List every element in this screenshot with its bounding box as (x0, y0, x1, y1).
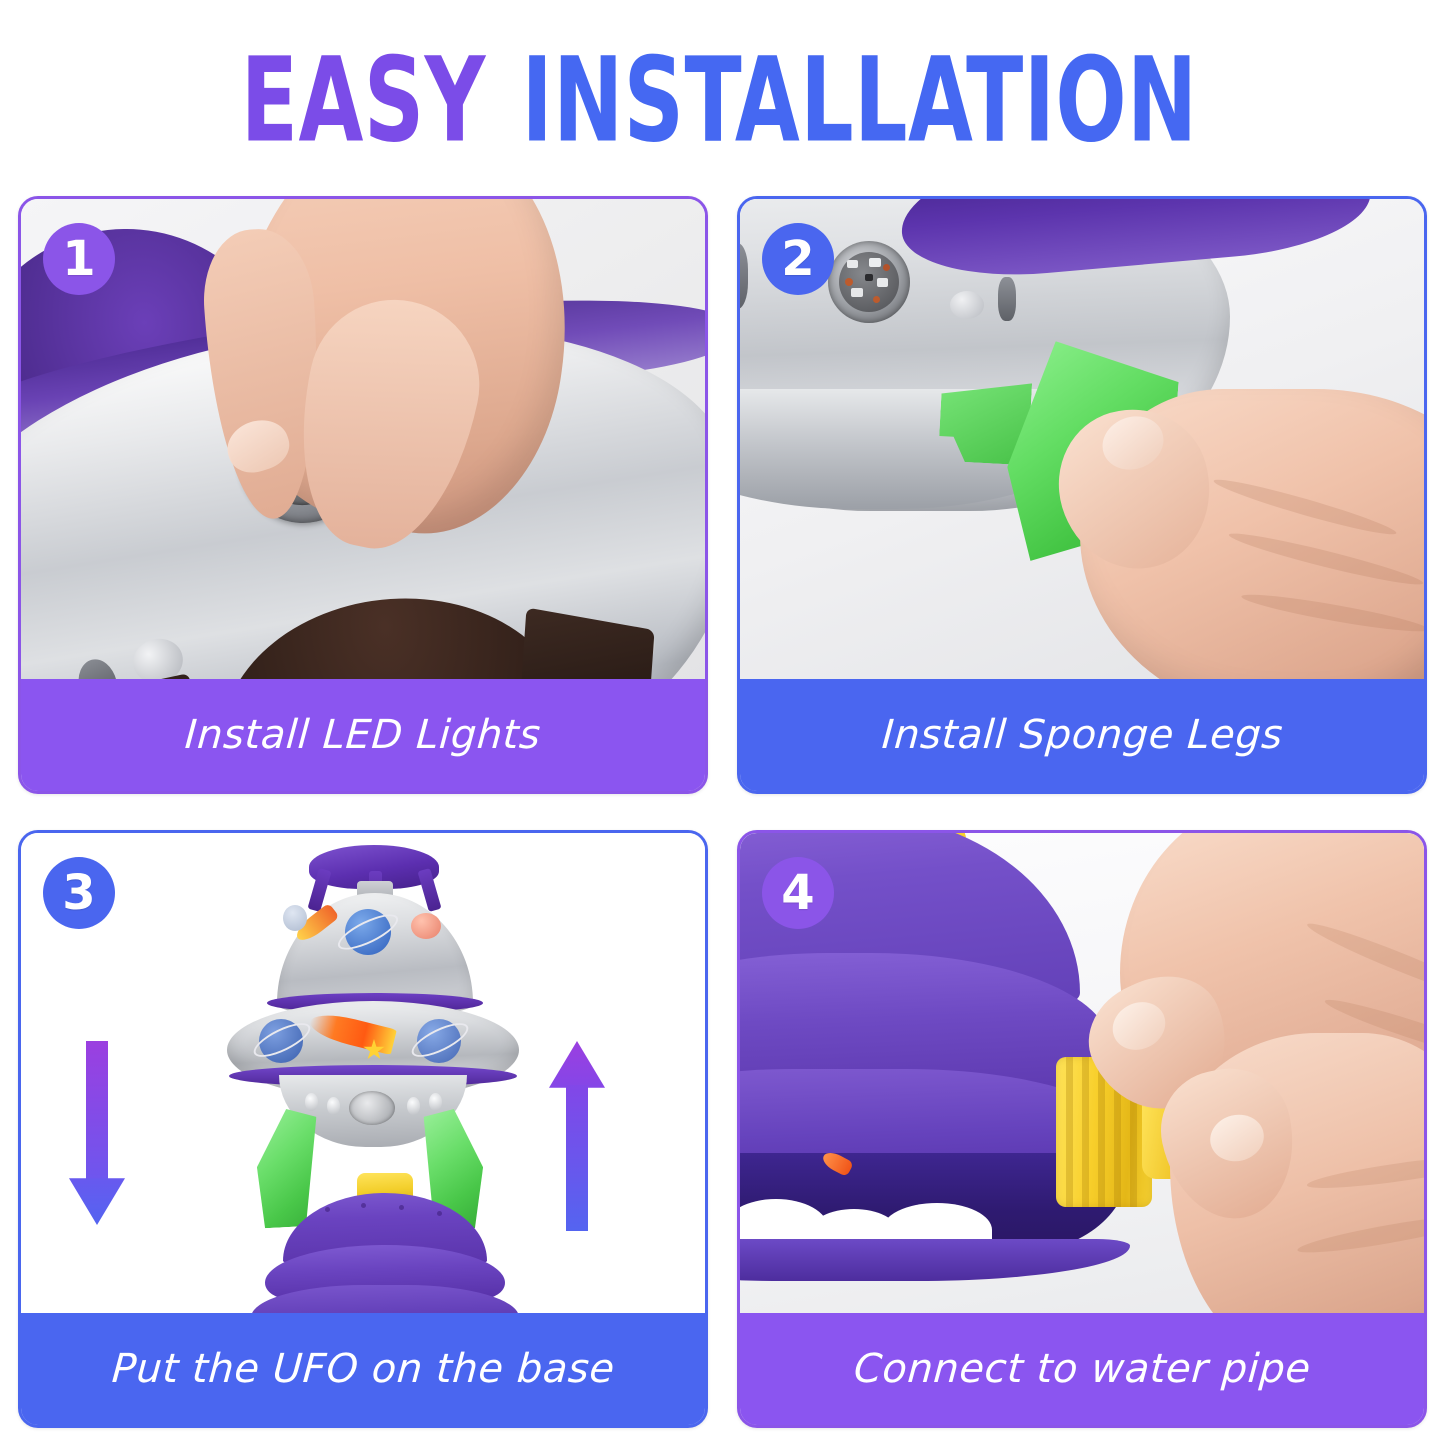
installation-infographic: EASYINSTALLATION (0, 0, 1445, 1445)
step-4-photo: 4 (740, 833, 1424, 1315)
step-2-photo: 2 (740, 199, 1424, 681)
step-caption-3-text: Put the UFO on the base (110, 1346, 616, 1392)
step-caption-2-text: Install Sponge Legs (880, 712, 1284, 758)
step-badge-2: 2 (762, 223, 834, 295)
page-title: EASYINSTALLATION (0, 44, 1445, 154)
step-caption-3: Put the UFO on the base (21, 1313, 705, 1425)
step-caption-1-text: Install LED Lights (184, 712, 543, 758)
ufo-illustration (221, 843, 521, 1143)
up-arrow-icon (549, 1041, 605, 1231)
ufo-base-illustration (249, 1173, 519, 1315)
led-socket-icon (828, 241, 910, 323)
step-card-1[interactable]: 1 Install LED Lights (18, 196, 708, 794)
step-caption-2: Install Sponge Legs (740, 679, 1424, 791)
steps-grid: 1 Install LED Lights (18, 196, 1427, 1428)
step-badge-1: 1 (43, 223, 115, 295)
step-3-photo: 3 (21, 833, 705, 1315)
step-badge-3: 3 (43, 857, 115, 929)
step-card-3[interactable]: 3 Put the UFO on the base (18, 830, 708, 1428)
step-badge-4: 4 (762, 857, 834, 929)
step-1-photo: 1 (21, 199, 705, 681)
step-card-2[interactable]: 2 Install Sponge Legs (737, 196, 1427, 794)
step-caption-4: Connect to water pipe (740, 1313, 1424, 1425)
step-card-4[interactable]: 4 Connect to water pipe (737, 830, 1427, 1428)
step-caption-4-text: Connect to water pipe (852, 1346, 1312, 1392)
title-word-installation: INSTALLATION (522, 32, 1198, 166)
down-arrow-icon (69, 1041, 125, 1231)
step-caption-1: Install LED Lights (21, 679, 705, 791)
title-word-easy: EASY (240, 32, 485, 166)
